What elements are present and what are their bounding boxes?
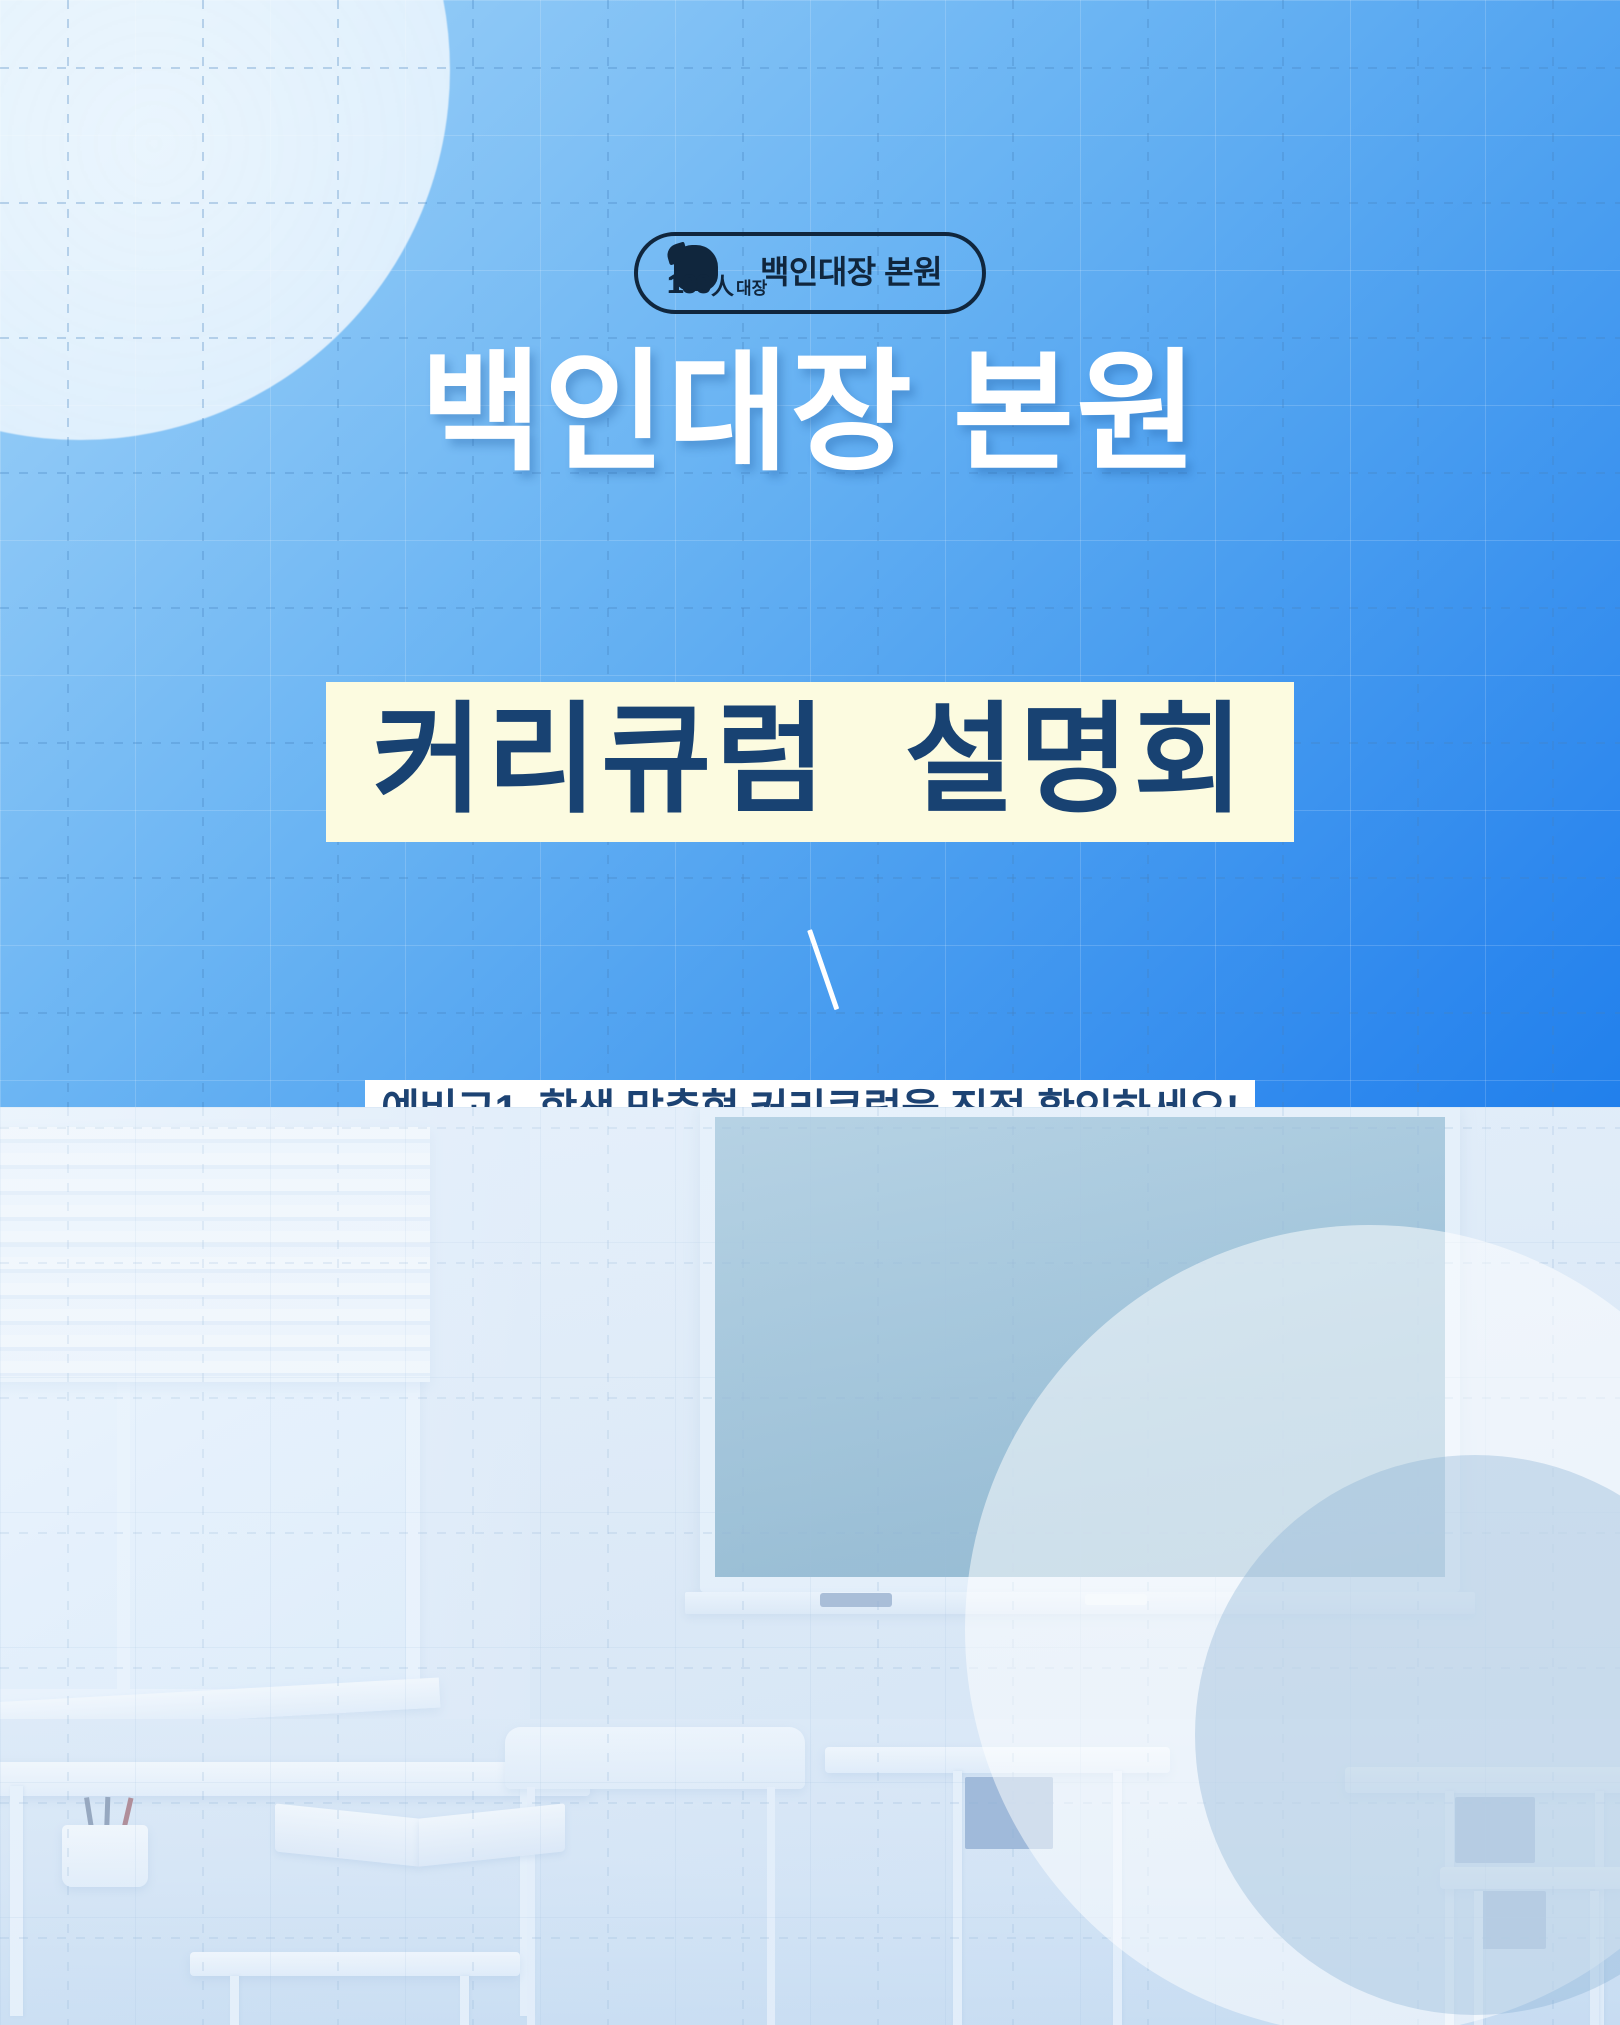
- logo-suffix: 대장: [736, 280, 767, 298]
- chalk-stick: [1085, 1594, 1147, 1605]
- chalk-tray: [685, 1592, 1475, 1614]
- chalkboard: [700, 1107, 1460, 1592]
- classroom-photo: [0, 1107, 1620, 2025]
- logo-person-glyph: 人: [711, 275, 734, 298]
- window-blinds: [0, 1127, 430, 1382]
- brand-badge[interactable]: 100人대장 백인대장 본원: [634, 232, 986, 314]
- slash-divider-icon: [787, 930, 833, 1014]
- open-book: [275, 1797, 565, 1863]
- desk-right-b: [1440, 1867, 1620, 2025]
- page-title: 백인대장 본원: [0, 342, 1620, 485]
- logo-number: 100: [668, 271, 710, 298]
- desk-bottom-left: [190, 1952, 520, 2025]
- baekindaejang-logo-icon: 100人대장: [668, 247, 746, 297]
- highlight-line-wrapper: 커리큐럼 설명회: [0, 682, 1620, 842]
- poster-canvas: 100人대장 백인대장 본원 백인대장 본원 커리큐럼 설명회 예비고1, 학생…: [0, 0, 1620, 2025]
- board-eraser: [820, 1593, 892, 1607]
- desk-mid: [825, 1747, 1170, 2025]
- brand-badge-label: 백인대장 본원: [760, 256, 942, 288]
- pencil-cup: [62, 1707, 172, 1887]
- highlight-subtitle: 커리큐럼 설명회: [326, 682, 1293, 842]
- logo-wordmark: 100人대장: [668, 271, 767, 298]
- chair-left: [505, 1727, 805, 2025]
